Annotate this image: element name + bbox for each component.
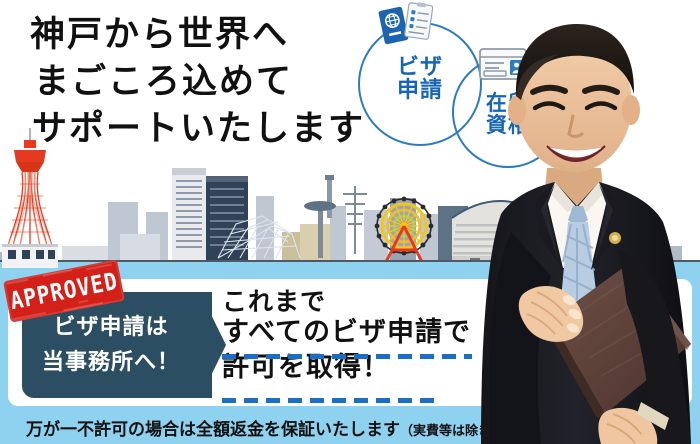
staff-photo <box>455 0 700 444</box>
visa-service-banner: 神戸から世界へ まごころ込めて サポートいたします <box>0 0 700 444</box>
passport-checklist-icon <box>378 2 438 50</box>
antenna-mast <box>343 186 367 254</box>
guarantee-main: 万が一不許可の場合は全額返金を保証いたします <box>26 420 400 440</box>
headline-line-1: 神戸から世界へ <box>30 12 390 59</box>
claim-underline-2 <box>222 398 437 403</box>
claim-underline-1 <box>222 354 472 359</box>
kobe-port-tower <box>0 128 58 268</box>
cta-line-2: 当事務所へ！ <box>22 345 200 380</box>
cta-arrow-text: ビザ申請は 当事務所へ！ <box>22 310 200 380</box>
headline-line-2: まごころ込めて <box>34 59 390 106</box>
guarantee-text: 万が一不許可の場合は全額返金を保証いたします（実費等は除きます） <box>26 415 496 440</box>
headline-line-3: サポートいたします <box>32 106 390 153</box>
page-title: 神戸から世界へ まごころ込めて サポートいたします <box>30 12 390 153</box>
